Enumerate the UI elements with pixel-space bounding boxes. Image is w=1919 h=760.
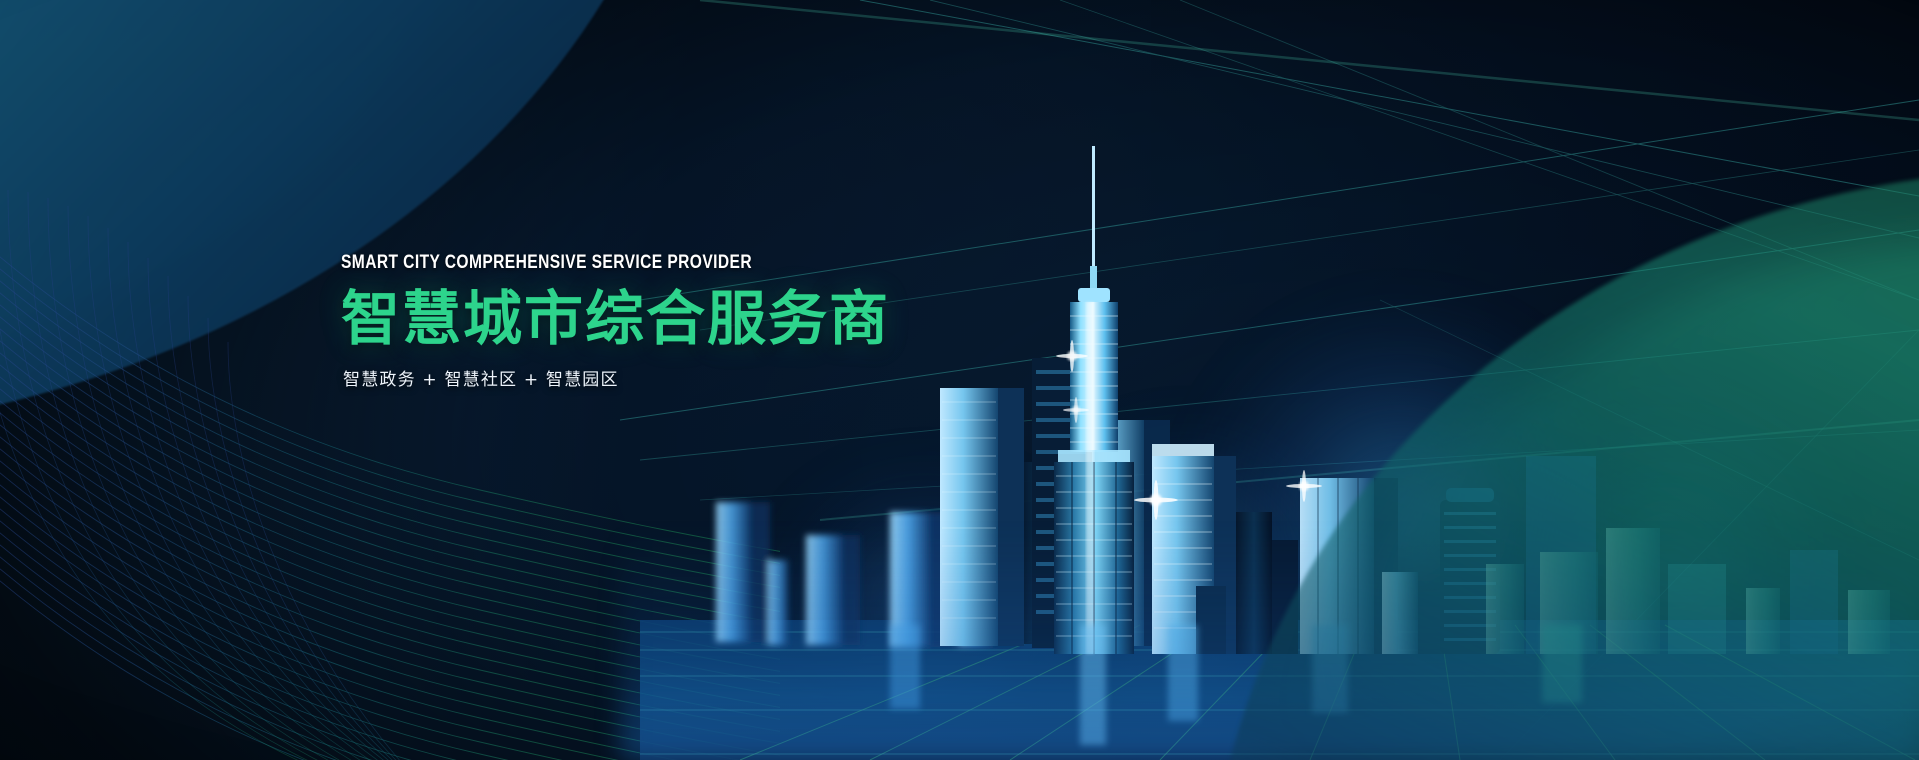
hero-copy-block: SMART CITY COMPREHENSIVE SERVICE PROVIDE…	[341, 252, 1061, 390]
hero-headline: 智慧城市综合服务商	[341, 288, 1061, 351]
hero-subtitle: 智慧政务 + 智慧社区 + 智慧园区	[343, 365, 1061, 390]
hero-eyebrow: SMART CITY COMPREHENSIVE SERVICE PROVIDE…	[341, 252, 931, 274]
hero-banner: SMART CITY COMPREHENSIVE SERVICE PROVIDE…	[0, 0, 1919, 760]
